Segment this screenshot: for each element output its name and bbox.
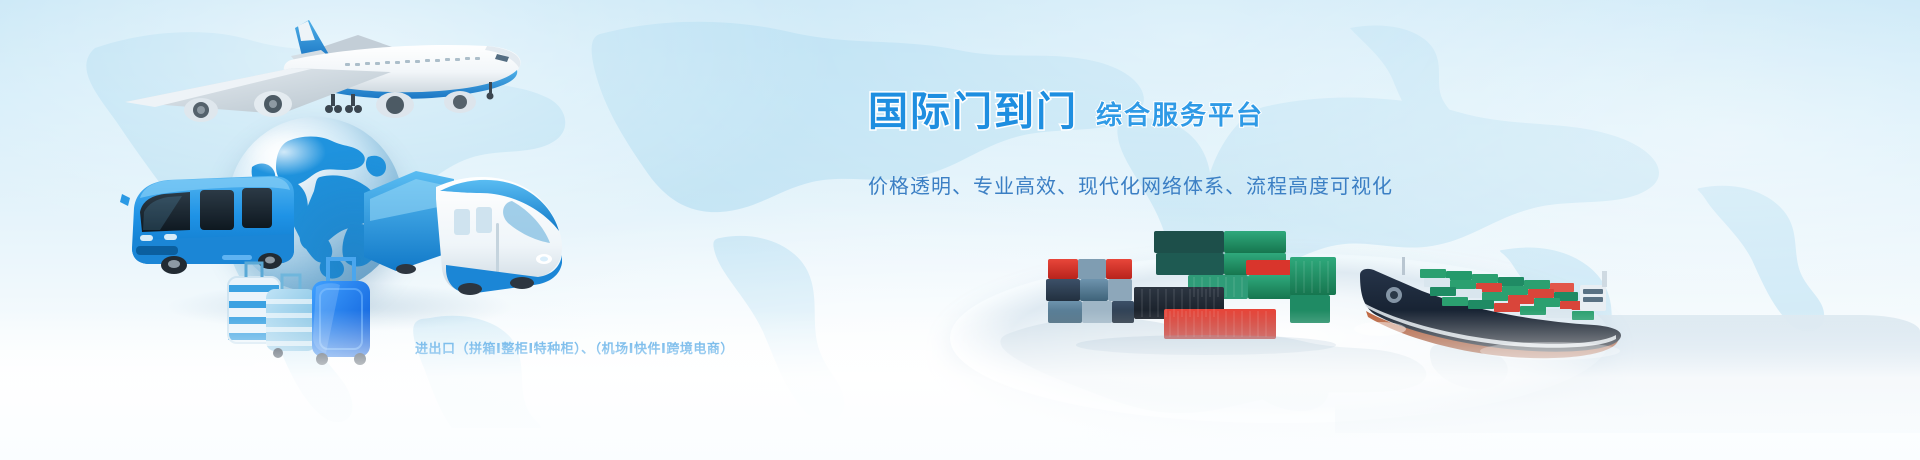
right-logistics-scene <box>950 195 1920 460</box>
promo-banner: 国际门到门 综合服务平台 价格透明、专业高效、现代化网络体系、流程高度可视化 进… <box>0 0 1920 460</box>
banner-text-block: 国际门到门 综合服务平台 价格透明、专业高效、现代化网络体系、流程高度可视化 <box>868 92 1568 199</box>
service-scope-caption: 进出口（拼箱I整柜I特种柜）、（机场I快件I跨境电商） <box>415 338 734 357</box>
container-ship-icon <box>1350 245 1660 375</box>
page-title: 国际门到门 <box>868 92 1078 132</box>
shipping-containers-icon <box>1038 225 1368 360</box>
headline-row: 国际门到门 综合服务平台 <box>868 92 1568 132</box>
left-transport-scene <box>0 0 720 460</box>
luggage-icon <box>222 255 402 370</box>
page-subtitle-suffix: 综合服务平台 <box>1096 103 1264 132</box>
tagline: 价格透明、专业高效、现代化网络体系、流程高度可视化 <box>868 170 1568 199</box>
